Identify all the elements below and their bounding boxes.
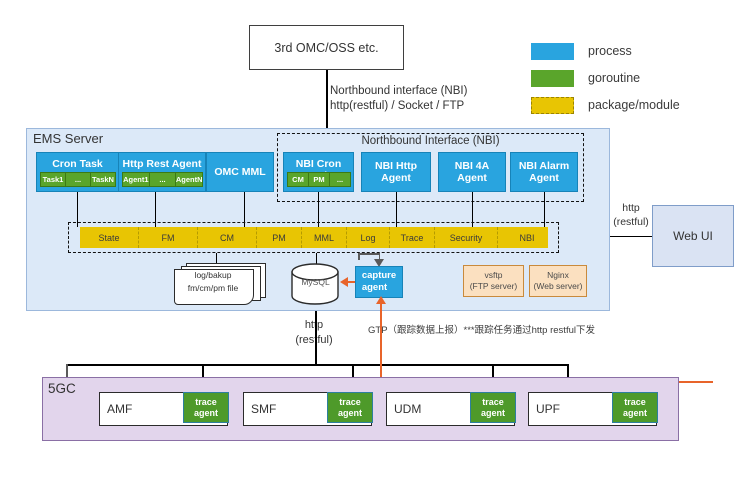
- goroutine-row-cron-task: Task1 ... TaskN: [40, 172, 115, 187]
- webui-link-line1: http: [608, 201, 654, 215]
- webui-link-label: http (restful): [608, 201, 654, 229]
- nbi-group-title: Northbound Interface (NBI): [277, 135, 584, 147]
- goroutine-task1: Task1: [40, 172, 66, 187]
- trace-agent-smf-line1: trace: [338, 397, 362, 408]
- legend-label-goroutine: goroutine: [588, 71, 640, 85]
- module-fm[interactable]: FM: [139, 227, 198, 248]
- nf-node-smf-label: SMF: [251, 402, 276, 416]
- trace-agent-udm[interactable]: trace agent: [470, 392, 516, 423]
- module-state[interactable]: State: [80, 227, 139, 248]
- trace-agent-udm-line2: agent: [481, 408, 505, 419]
- process-omc-mml[interactable]: OMC MML: [206, 152, 274, 192]
- process-nbi-alarm-agent-title: NBI Alarm Agent: [511, 160, 577, 184]
- trace-agent-smf[interactable]: trace agent: [327, 392, 373, 423]
- nginx-line1: Nginx: [534, 270, 583, 281]
- ems-server-title: EMS Server: [33, 131, 103, 146]
- nbi-link-label-line2: http(restful) / Socket / FTP: [330, 99, 467, 114]
- trace-agent-upf-line2: agent: [623, 408, 647, 419]
- legend-label-process: process: [588, 44, 632, 58]
- goroutine-task-ellipsis: ...: [65, 172, 91, 187]
- goroutine-agent-ellipsis: ...: [149, 172, 177, 187]
- http-bus-right-stub: [567, 364, 569, 378]
- nf-node-udm[interactable]: UDM trace agent: [386, 392, 515, 426]
- goroutine-taskn: TaskN: [90, 172, 116, 187]
- process-http-rest-agent-title: Http Rest Agent: [119, 158, 205, 170]
- capture-agent-line2: agent: [362, 282, 396, 294]
- process-nbi-4a-agent-title: NBI 4A Agent: [439, 160, 505, 184]
- third-party-omc-oss-label: 3rd OMC/OSS etc.: [274, 41, 378, 55]
- module-pm[interactable]: PM: [257, 227, 302, 248]
- file-storage-stack: log/bakup fm/cm/pm file: [172, 263, 264, 305]
- goroutine-nbi-ellipsis: ...: [329, 172, 351, 187]
- module-security[interactable]: Security: [435, 227, 498, 248]
- module-mml[interactable]: MML: [302, 227, 347, 248]
- trace-agent-udm-line1: trace: [481, 397, 505, 408]
- nbi-link-label: Northbound interface (NBI) http(restful)…: [330, 84, 467, 114]
- module-nbi[interactable]: NBI: [498, 227, 556, 248]
- nf-node-upf-label: UPF: [536, 402, 560, 416]
- file-storage-label: log/bakup fm/cm/pm file: [176, 269, 250, 295]
- vsftp-server[interactable]: vsftp (FTP server): [463, 265, 524, 297]
- module-bar: State FM CM PM MML Log Trace Security NB…: [80, 227, 548, 248]
- nf-node-upf[interactable]: UPF trace agent: [528, 392, 657, 426]
- goroutine-row-http-rest-agent: Agent1 ... AgentN: [122, 172, 202, 187]
- nf-node-udm-label: UDM: [394, 402, 421, 416]
- legend-swatch-process: [531, 43, 574, 60]
- trace-agent-amf-line1: trace: [194, 397, 218, 408]
- process-nbi-cron-task[interactable]: NBI Cron Task CM PM ...: [283, 152, 354, 192]
- third-party-omc-oss-box: 3rd OMC/OSS etc.: [249, 25, 404, 70]
- process-cron-task[interactable]: Cron Task Task1 ... TaskN: [36, 152, 119, 192]
- vsftp-line2: (FTP server): [470, 281, 518, 292]
- legend-swatch-goroutine: [531, 70, 574, 87]
- mysql-database-label: MySQL: [288, 277, 343, 287]
- nf-node-amf-label: AMF: [107, 402, 132, 416]
- legend-row-package: package/module: [531, 96, 680, 114]
- trace-agent-amf[interactable]: trace agent: [183, 392, 229, 423]
- trace-agent-upf[interactable]: trace agent: [612, 392, 658, 423]
- process-nbi-http-agent[interactable]: NBI Http Agent: [361, 152, 431, 192]
- vsftp-line1: vsftp: [470, 270, 518, 281]
- connector-trace-to-capture-h: [358, 253, 380, 255]
- arrowhead-capture-to-mysql: [340, 277, 348, 287]
- http-restful-line1: http: [290, 318, 338, 333]
- nf-node-smf[interactable]: SMF trace agent: [243, 392, 372, 426]
- fivegc-title: 5GC: [48, 381, 76, 396]
- http-bus-horizontal: [66, 364, 569, 366]
- file-storage-line1: log/bakup: [176, 269, 250, 282]
- process-omc-mml-title: OMC MML: [214, 166, 265, 178]
- goroutine-row-nbi-cron-task: CM PM ...: [287, 172, 350, 187]
- trace-agent-smf-line2: agent: [338, 408, 362, 419]
- webui-link-line2: (restful): [608, 215, 654, 229]
- http-restful-line2: (restful): [290, 333, 338, 348]
- mysql-database: MySQL: [288, 263, 343, 305]
- file-storage-line2: fm/cm/pm file: [176, 282, 250, 295]
- legend-swatch-package: [531, 97, 574, 114]
- module-log[interactable]: Log: [347, 227, 390, 248]
- legend: process goroutine package/module: [531, 42, 746, 114]
- connector-omc-to-ems: [326, 70, 328, 128]
- legend-row-goroutine: goroutine: [531, 69, 640, 87]
- process-nbi-alarm-agent[interactable]: NBI Alarm Agent: [510, 152, 578, 192]
- process-cron-task-title: Cron Task: [37, 158, 118, 170]
- trace-agent-amf-line2: agent: [194, 408, 218, 419]
- arrowhead-gtp-to-capture: [376, 296, 386, 304]
- goroutine-agent1: Agent1: [122, 172, 150, 187]
- nf-node-amf[interactable]: AMF trace agent: [99, 392, 228, 426]
- capture-agent-process[interactable]: capture agent: [355, 266, 403, 298]
- process-http-rest-agent[interactable]: Http Rest Agent Agent1 ... AgentN: [118, 152, 206, 192]
- trace-agent-upf-line1: trace: [623, 397, 647, 408]
- process-nbi-http-agent-title: NBI Http Agent: [362, 160, 430, 184]
- gtp-annotation: GTP（跟踪数据上报）***跟踪任务通过http restful下发: [368, 322, 595, 336]
- goroutine-pm: PM: [308, 172, 330, 187]
- nbi-link-label-line1: Northbound interface (NBI): [330, 84, 467, 99]
- web-ui-box[interactable]: Web UI: [652, 205, 734, 267]
- module-trace[interactable]: Trace: [390, 227, 435, 248]
- process-nbi-4a-agent[interactable]: NBI 4A Agent: [438, 152, 506, 192]
- capture-agent-line1: capture: [362, 270, 396, 282]
- nginx-line2: (Web server): [534, 281, 583, 292]
- web-ui-label: Web UI: [673, 229, 713, 243]
- connector-ems-to-bus: [315, 311, 317, 365]
- connector-gtp-to-capture: [380, 298, 382, 382]
- http-restful-label: http (restful): [290, 318, 338, 348]
- goroutine-agentn: AgentN: [175, 172, 203, 187]
- connector-ems-to-webui: [610, 236, 652, 237]
- legend-label-package: package/module: [588, 98, 680, 112]
- module-cm[interactable]: CM: [198, 227, 257, 248]
- nginx-server[interactable]: Nginx (Web server): [529, 265, 587, 297]
- goroutine-cm: CM: [287, 172, 309, 187]
- legend-row-process: process: [531, 42, 632, 60]
